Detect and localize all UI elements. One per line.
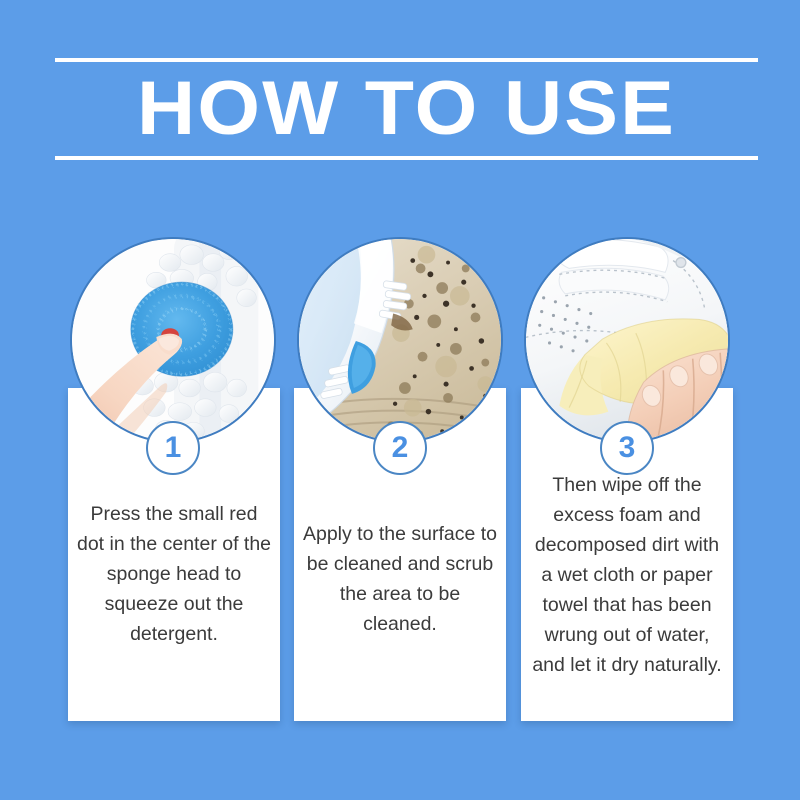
sneaker-wipe-photo xyxy=(526,239,728,441)
sneaker-wipe-illustration xyxy=(526,239,728,441)
steps-container: Press the small red dot in the center of… xyxy=(0,0,800,800)
step-caption-1: Press the small red dot in the center of… xyxy=(76,499,272,649)
step-number-badge-2: 2 xyxy=(373,421,427,475)
brush-scrub-illustration xyxy=(299,239,501,441)
step-image-3 xyxy=(524,237,730,443)
step-image-1 xyxy=(70,237,276,443)
brush-scrub-photo xyxy=(299,239,501,441)
step-number-badge-1: 1 xyxy=(146,421,200,475)
step-caption-2: Apply to the surface to be cleaned and s… xyxy=(302,519,498,639)
sponge-press-illustration xyxy=(72,239,274,441)
step-image-2 xyxy=(297,237,503,443)
step-caption-3: Then wipe off the excess foam and decomp… xyxy=(529,470,725,680)
sponge-press-photo xyxy=(72,239,274,441)
step-number-badge-3: 3 xyxy=(600,421,654,475)
